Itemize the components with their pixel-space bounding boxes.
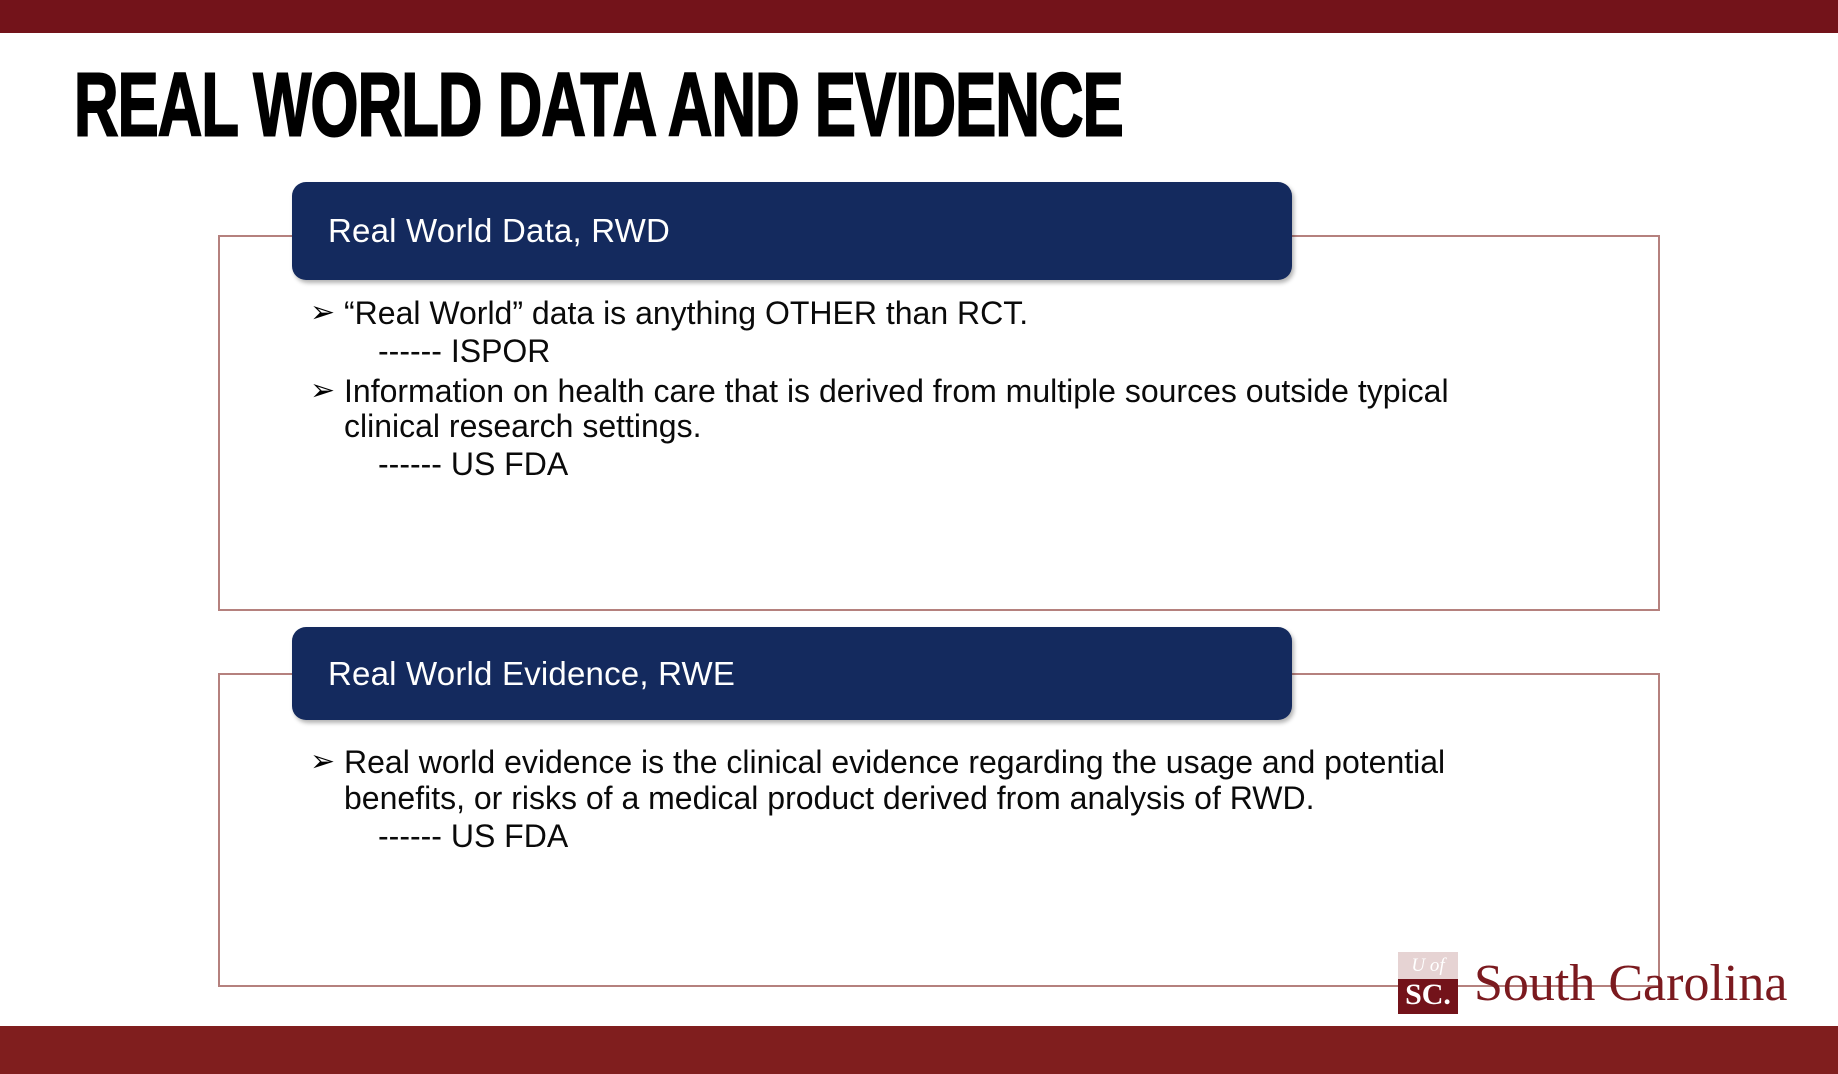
list-item: ➢ Information on health care that is der…	[310, 374, 1490, 446]
usc-logo: U of SC. South Carolina	[1398, 952, 1787, 1014]
attribution-ispor: ------ ISPOR	[378, 334, 1490, 370]
section-header-rwd-label: Real World Data, RWD	[328, 212, 670, 250]
list-item: ➢ “Real World” data is anything OTHER th…	[310, 296, 1490, 332]
section-header-rwe-label: Real World Evidence, RWE	[328, 655, 735, 693]
page-title: REAL WORLD DATA AND EVIDENCE	[74, 60, 1123, 150]
list-item-text: Real world evidence is the clinical evid…	[344, 745, 1490, 817]
list-item-text: “Real World” data is anything OTHER than…	[344, 296, 1490, 332]
usc-logo-uof-text: U of	[1398, 952, 1458, 979]
section-body-rwe: ➢ Real world evidence is the clinical ev…	[310, 745, 1490, 858]
arrow-bullet-icon: ➢	[310, 296, 344, 330]
arrow-bullet-icon: ➢	[310, 745, 344, 779]
section-body-rwd: ➢ “Real World” data is anything OTHER th…	[310, 296, 1490, 487]
slide: REAL WORLD DATA AND EVIDENCE Real World …	[0, 0, 1838, 1074]
list-item: ➢ Real world evidence is the clinical ev…	[310, 745, 1490, 817]
arrow-bullet-icon: ➢	[310, 374, 344, 408]
section-header-rwd: Real World Data, RWD	[292, 182, 1292, 280]
section-header-rwe: Real World Evidence, RWE	[292, 627, 1292, 720]
attribution-us-fda: ------ US FDA	[378, 447, 1490, 483]
top-accent-bar	[0, 0, 1838, 33]
usc-logo-sc-text: SC.	[1398, 978, 1458, 1014]
list-item-text: Information on health care that is deriv…	[344, 374, 1490, 446]
usc-logo-mark-icon: U of SC.	[1398, 952, 1458, 1014]
usc-wordmark: South Carolina	[1474, 958, 1787, 1010]
bottom-accent-bar	[0, 1026, 1838, 1074]
attribution-us-fda: ------ US FDA	[378, 819, 1490, 855]
